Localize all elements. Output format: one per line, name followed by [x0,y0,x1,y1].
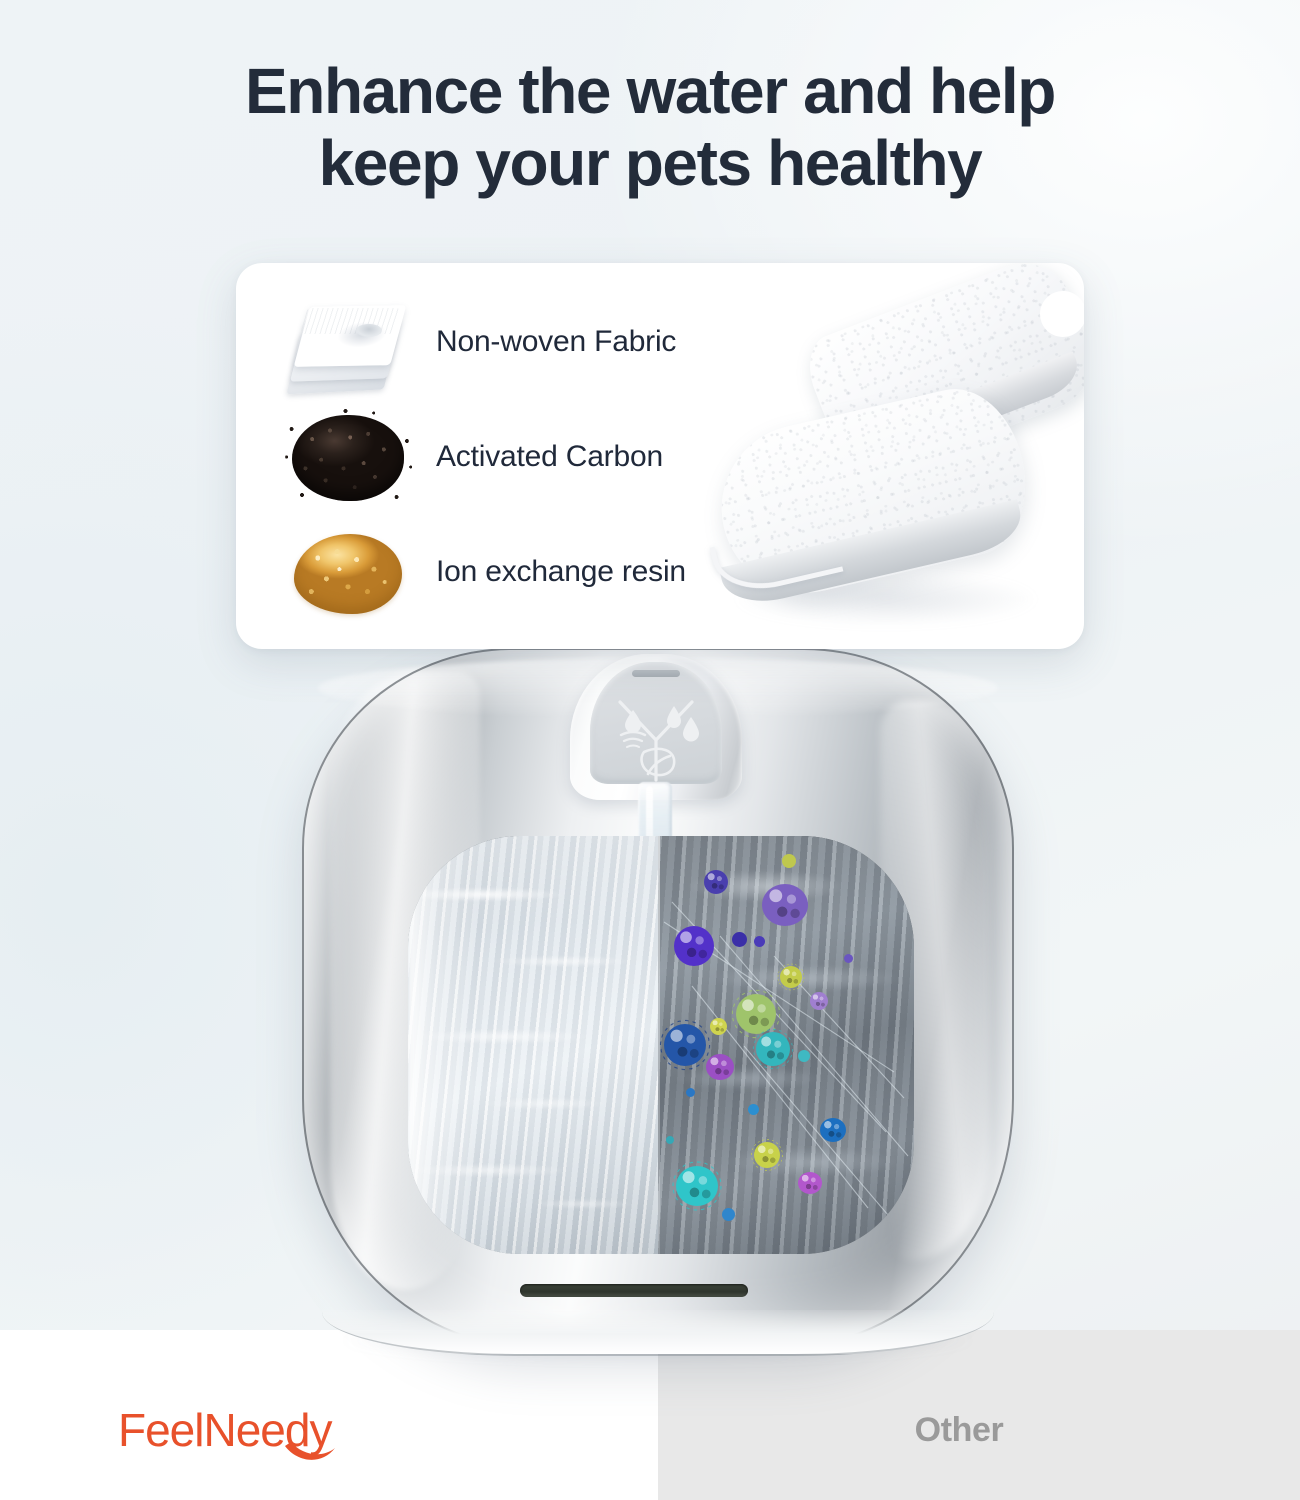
list-item: Ion exchange resin [278,516,778,628]
microbe [706,1054,734,1080]
ion-exchange-resin-icon [278,520,414,624]
brand-side-panel: FeelNeedy [0,1360,658,1500]
microbe [756,1032,790,1066]
brand-swoosh-icon [283,1440,337,1466]
page-title: Enhance the water and help keep your pet… [0,56,1300,199]
microbe [732,932,747,947]
microbe [748,1104,759,1115]
microbe [674,926,714,966]
clean-water-half [408,836,658,1254]
water-split-divider [658,836,660,1254]
ingredient-label: Activated Carbon [436,440,663,474]
list-item: Activated Carbon [278,401,778,513]
microbe [686,1088,695,1097]
headline-line-1: Enhance the water and help [60,56,1240,128]
microbe [798,1050,810,1062]
microbe [710,1018,727,1035]
other-label: Other [915,1411,1004,1450]
non-woven-fabric-icon [278,290,414,394]
contaminated-water-half [658,836,914,1254]
fountain-bottom-slot [520,1284,748,1297]
microbe [664,1024,706,1066]
water-drop-ripple-icon [621,710,645,747]
microbe [798,1172,822,1194]
leaf-icon [642,749,675,775]
brand-comparison-bar: FeelNeedy Other [0,1360,1300,1500]
list-item: Non-woven Fabric [278,286,778,398]
microbe [762,884,808,926]
microbe [844,954,853,963]
microbe [754,936,765,947]
microbe [676,1166,718,1206]
dispenser-icon-group [590,688,722,784]
pet-water-fountain [0,600,1300,1380]
product-feature-poster: Enhance the water and help keep your pet… [0,0,1300,1500]
microbe [820,1118,846,1142]
activated-carbon-icon [278,405,414,509]
ingredient-list: Non-woven Fabric Activated Carbon Ion ex… [278,285,778,629]
microbe [780,966,802,988]
other-side-panel: Other [658,1360,1300,1500]
microbe [810,992,828,1010]
microbe [754,1142,780,1168]
microbe [666,1136,674,1144]
microbe [782,854,796,868]
ingredient-label: Non-woven Fabric [436,325,676,359]
filter-ingredients-card: Non-woven Fabric Activated Carbon Ion ex… [236,263,1084,649]
ingredient-label: Ion exchange resin [436,555,686,589]
headline-line-2: keep your pets healthy [60,128,1240,200]
microbe [722,1208,735,1221]
microbe [704,870,728,894]
brand-logo: FeelNeedy [118,1407,331,1453]
dispenser-slot [632,670,680,677]
fountain-basin [408,836,914,1254]
